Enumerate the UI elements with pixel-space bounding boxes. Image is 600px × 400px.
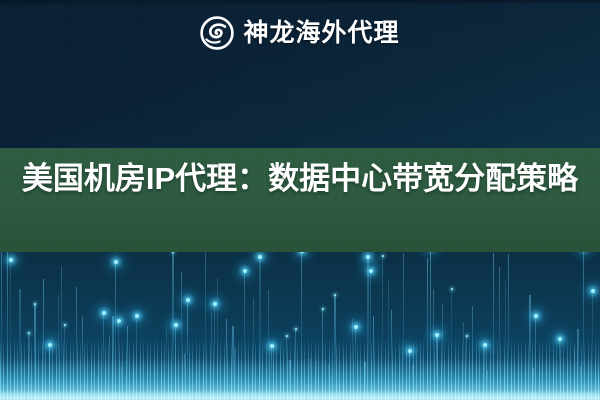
poster-banner: 神龙海外代理 美国机房IP代理：数据中心带宽分配策略 bbox=[0, 0, 600, 400]
brand-name: 神龙海外代理 bbox=[243, 16, 399, 50]
brand-logo[interactable]: 神龙海外代理 bbox=[0, 10, 600, 56]
swirl-dragon-icon bbox=[200, 16, 234, 50]
page-title: 美国机房IP代理：数据中心带宽分配策略 bbox=[0, 156, 600, 201]
top-edge-strip bbox=[0, 0, 600, 5]
light-beams-field bbox=[0, 245, 600, 400]
floor-edge-highlight bbox=[0, 392, 600, 400]
